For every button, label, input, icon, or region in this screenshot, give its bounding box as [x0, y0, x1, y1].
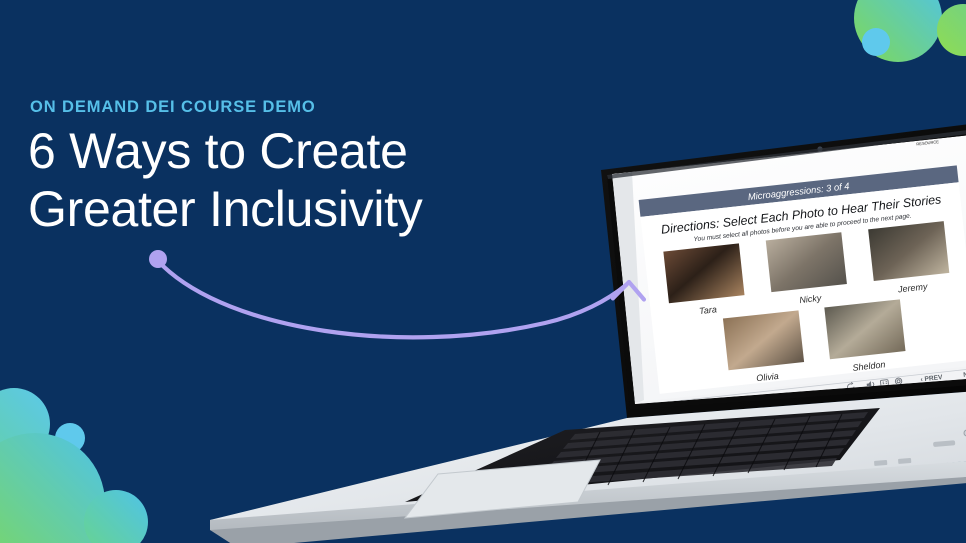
promo-banner: ON DEMAND DEI COURSE DEMO 6 Ways to Crea…: [0, 0, 966, 543]
laptop-mockup: RESOURCE Microaggressions: 3 of 4 Direct…: [180, 78, 966, 543]
bubble-top-right-small: [862, 28, 890, 56]
photo-label-tara: Tara: [699, 304, 718, 316]
